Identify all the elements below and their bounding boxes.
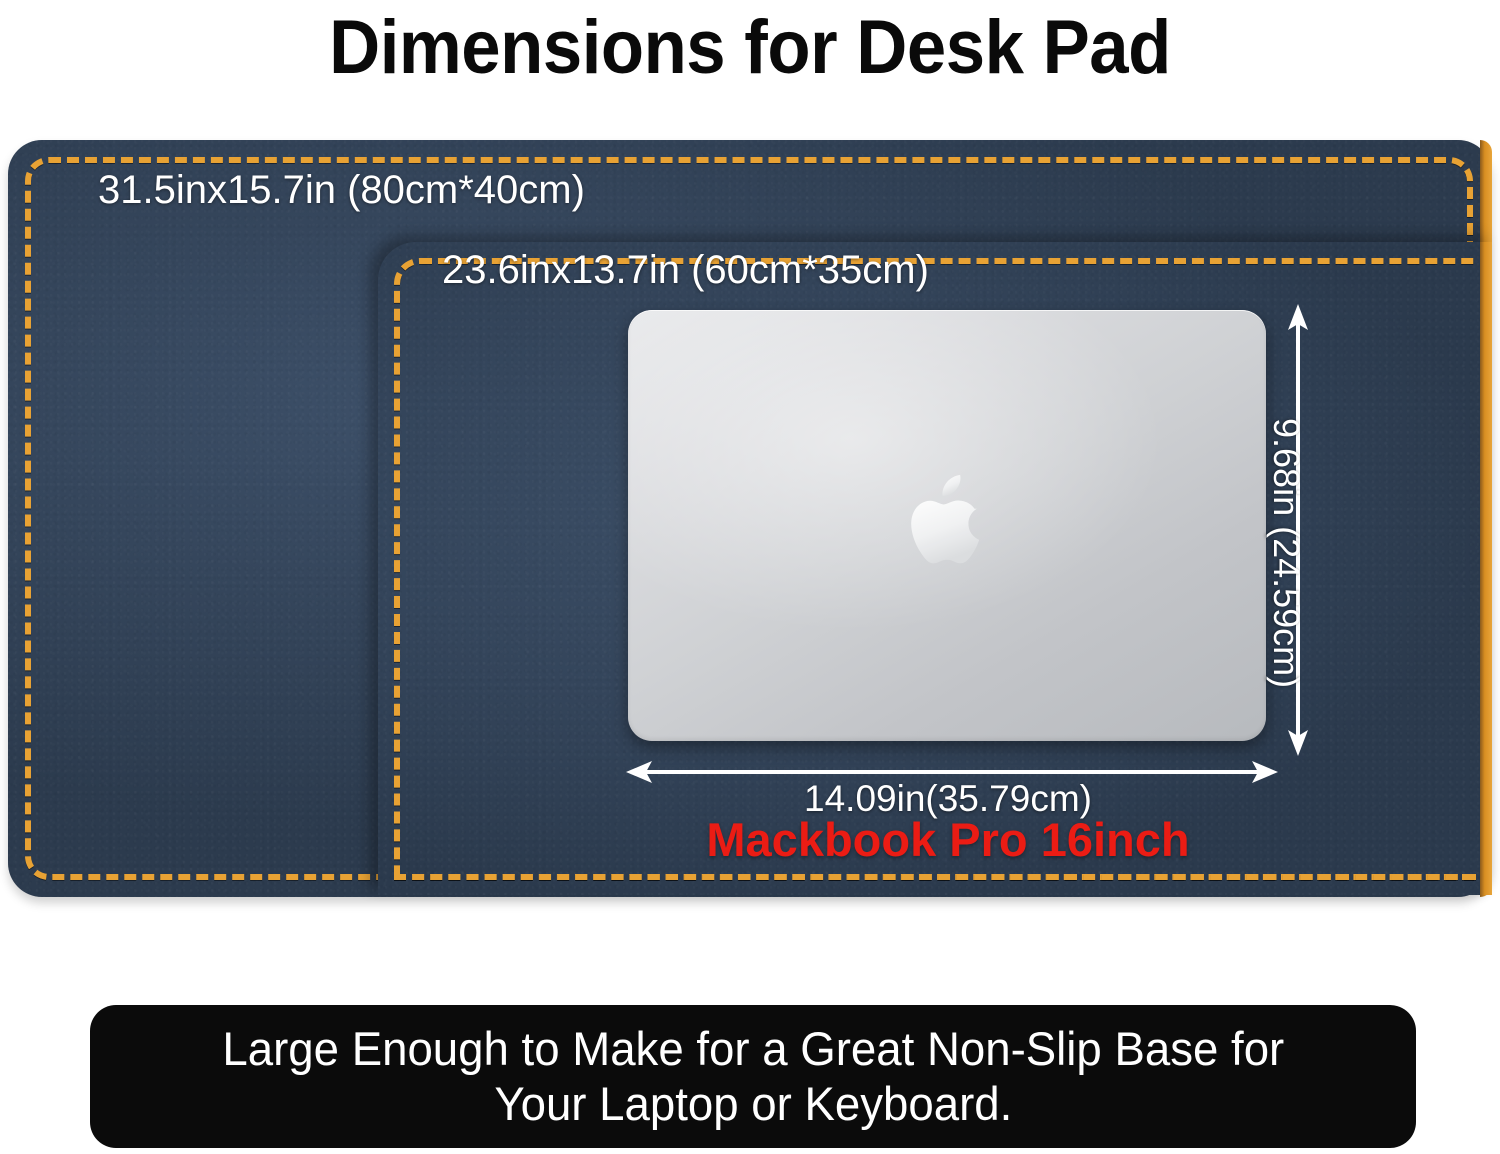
caption-line-2: Your Laptop or Keyboard. [494, 1077, 1012, 1130]
outer-pad-size-label: 31.5inx15.7in (80cm*40cm) [98, 168, 585, 213]
apple-logo-icon [901, 472, 993, 580]
caption-line-1: Large Enough to Make for a Great Non-Sli… [222, 1022, 1284, 1075]
caption-banner: Large Enough to Make for a Great Non-Sli… [90, 1005, 1416, 1148]
inner-pad-edge-strip [1480, 242, 1492, 895]
inner-pad-stitching-bottom [394, 874, 1476, 880]
macbook-pro-laptop [628, 310, 1266, 741]
desk-pad-illustration: 31.5inx15.7in (80cm*40cm) 23.6inx13.7in … [0, 0, 1500, 960]
laptop-model-label: Mackbook Pro 16inch [628, 812, 1268, 867]
laptop-height-label: 9.68in (24.59cm) [1265, 418, 1307, 638]
caption-text: Large Enough to Make for a Great Non-Sli… [189, 1022, 1317, 1131]
inner-pad-size-label: 23.6inx13.7in (60cm*35cm) [442, 248, 929, 293]
